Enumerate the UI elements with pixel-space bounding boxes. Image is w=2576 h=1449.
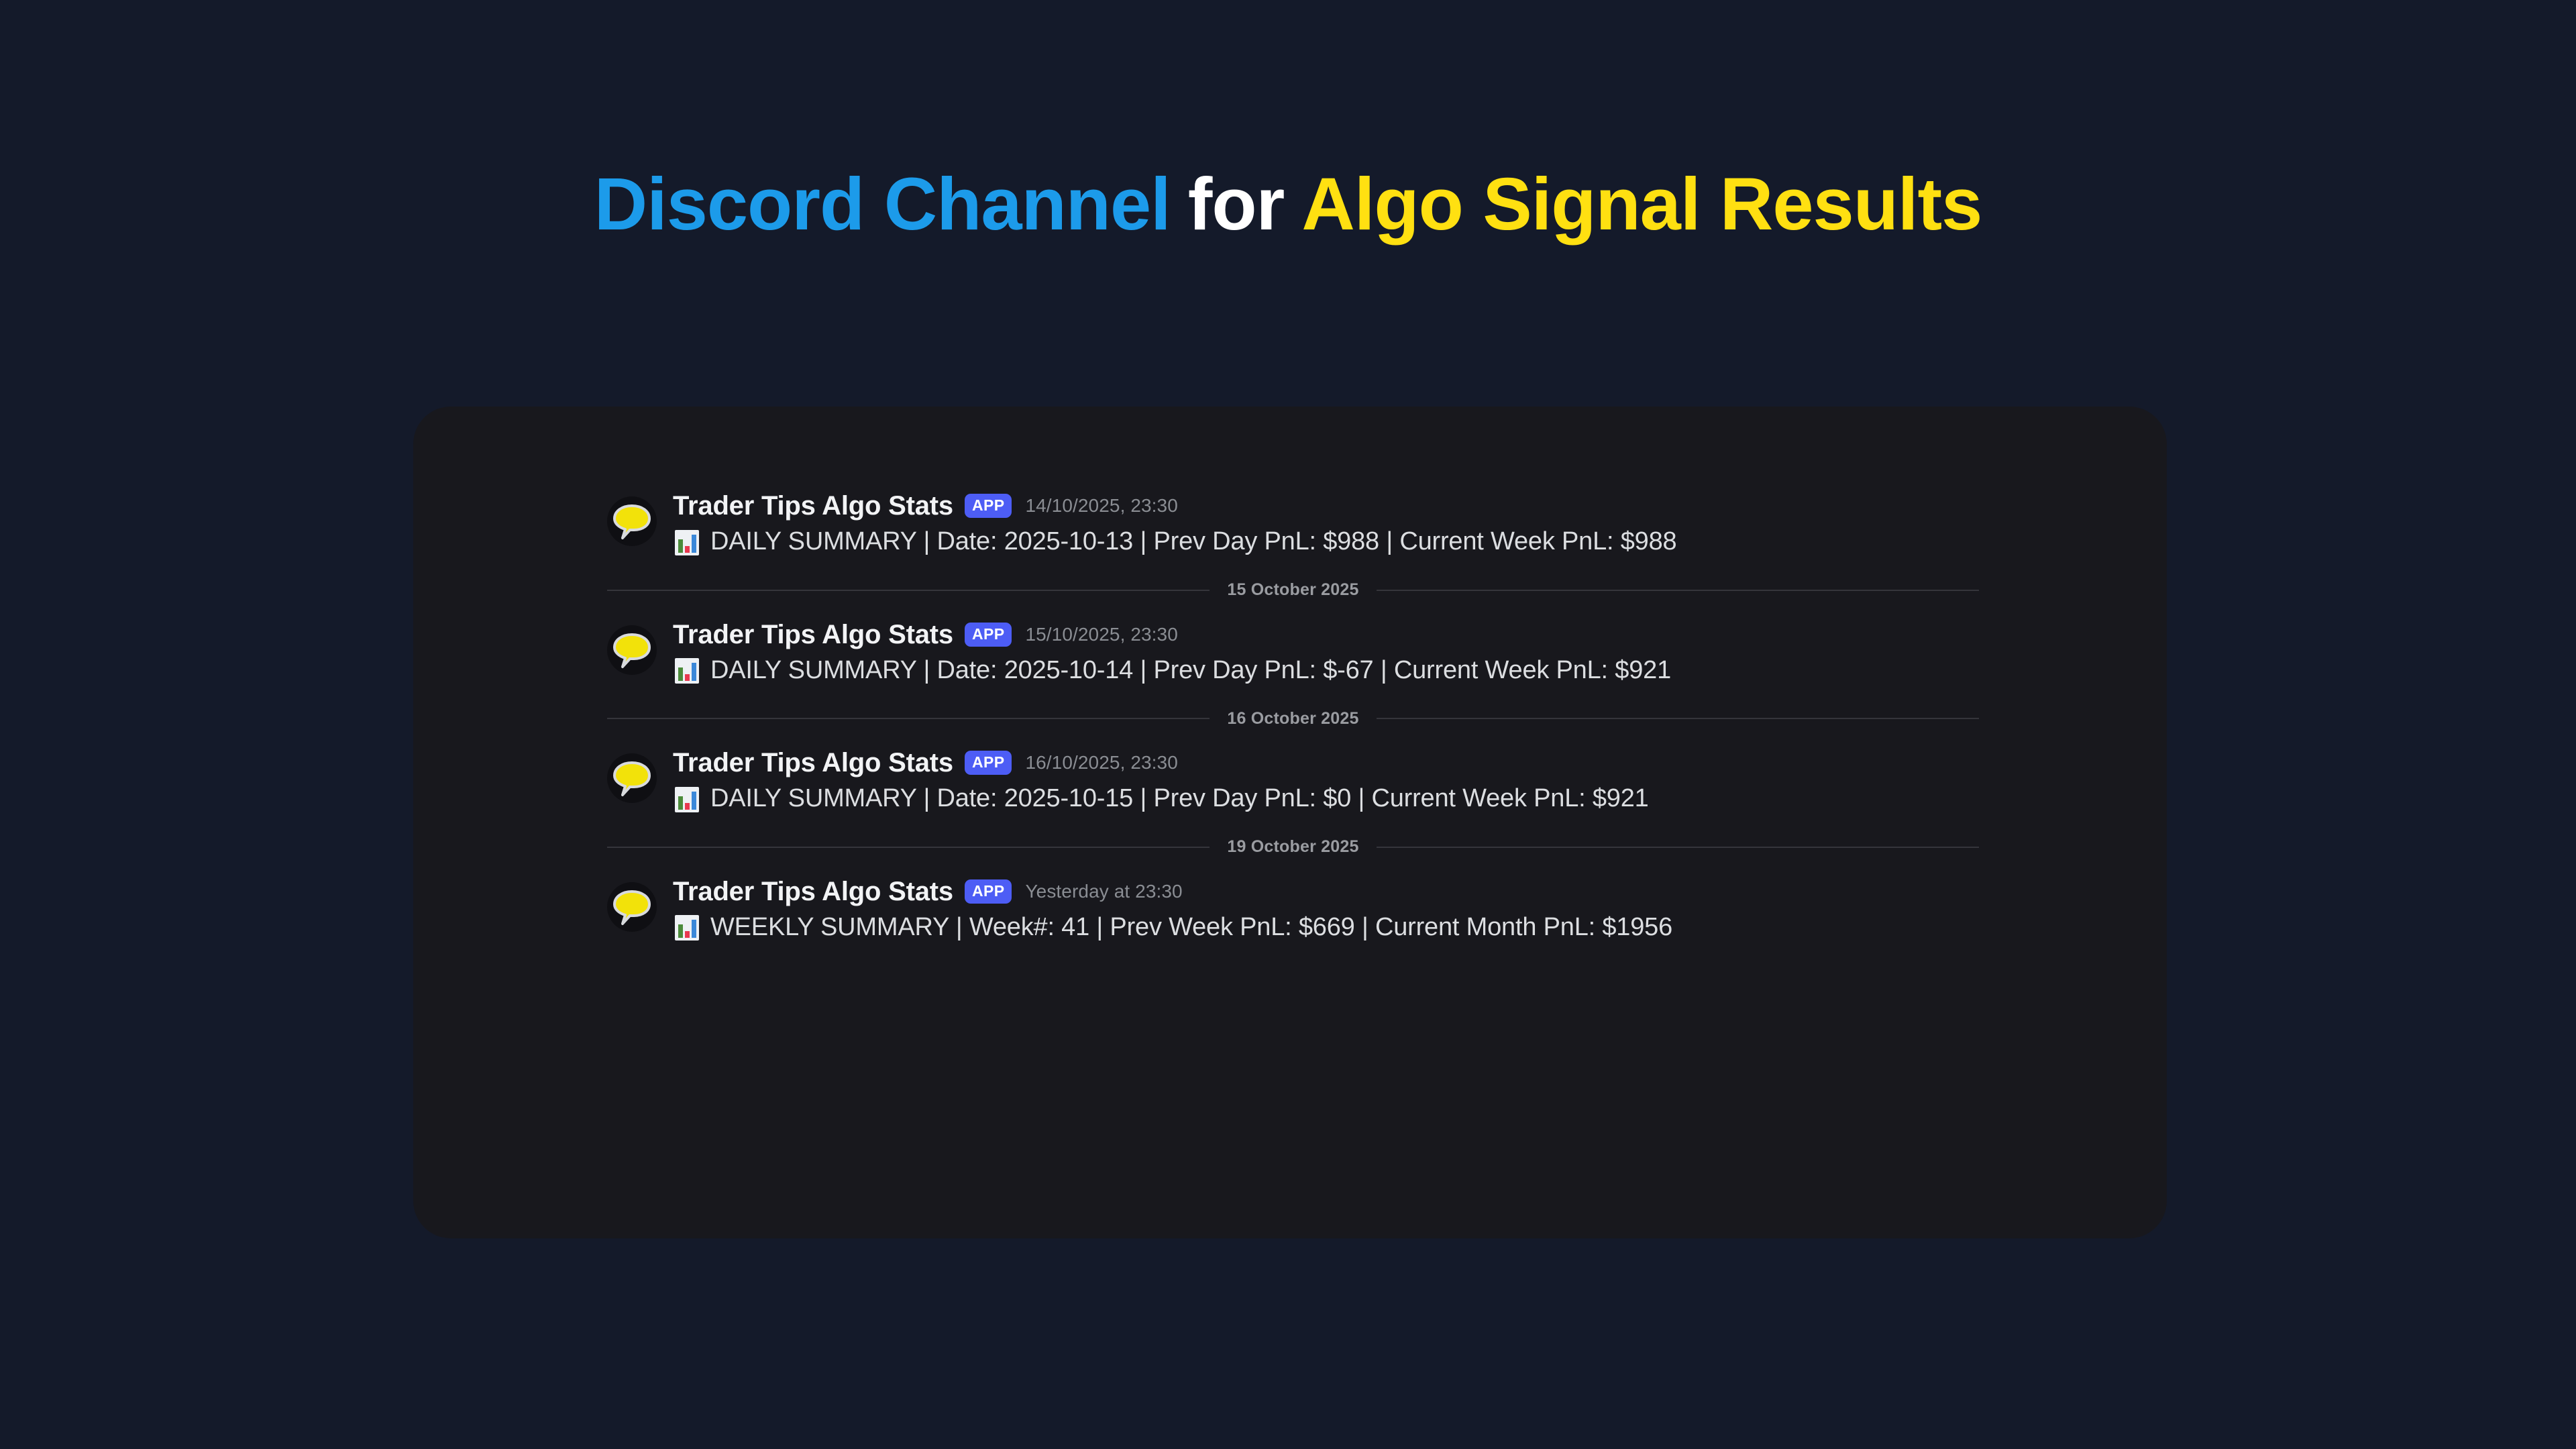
message-timestamp: 15/10/2025, 23:30 bbox=[1025, 625, 1177, 644]
app-badge: APP bbox=[965, 879, 1012, 904]
avatar[interactable] bbox=[607, 625, 657, 675]
message-text: DAILY SUMMARY | Date: 2025-10-15 | Prev … bbox=[710, 783, 1649, 815]
date-divider: 16 October 2025 bbox=[607, 697, 1979, 740]
chat-message[interactable]: Trader Tips Algo StatsAPP14/10/2025, 23:… bbox=[607, 486, 1979, 562]
avatar[interactable] bbox=[607, 496, 657, 546]
message-body: Trader Tips Algo StatsAPP16/10/2025, 23:… bbox=[673, 749, 1979, 815]
bar-chart-icon bbox=[673, 786, 701, 814]
speech-bubble-icon bbox=[607, 496, 657, 546]
discord-channel-panel: Trader Tips Algo StatsAPP14/10/2025, 23:… bbox=[413, 407, 2167, 1238]
page-title-part-discord-channel: Discord Channel bbox=[594, 163, 1171, 246]
app-badge: APP bbox=[965, 494, 1012, 518]
avatar-column bbox=[607, 492, 673, 546]
message-header: Trader Tips Algo StatsAPP16/10/2025, 23:… bbox=[673, 749, 1979, 776]
avatar[interactable] bbox=[607, 882, 657, 932]
message-content: DAILY SUMMARY | Date: 2025-10-13 | Prev … bbox=[673, 526, 1979, 558]
date-divider-label: 16 October 2025 bbox=[1210, 709, 1376, 729]
page-title-container: Discord ChannelforAlgo Signal Results bbox=[0, 0, 2576, 241]
chat-message[interactable]: Trader Tips Algo StatsAPP16/10/2025, 23:… bbox=[607, 743, 1979, 819]
chat-message[interactable]: Trader Tips Algo StatsAPPYesterday at 23… bbox=[607, 871, 1979, 948]
message-content: WEEKLY SUMMARY | Week#: 41 | Prev Week P… bbox=[673, 912, 1979, 944]
message-username[interactable]: Trader Tips Algo Stats bbox=[673, 621, 953, 648]
message-text: WEEKLY SUMMARY | Week#: 41 | Prev Week P… bbox=[710, 912, 1672, 944]
date-divider: 15 October 2025 bbox=[607, 569, 1979, 612]
message-username[interactable]: Trader Tips Algo Stats bbox=[673, 492, 953, 519]
page-title: Discord ChannelforAlgo Signal Results bbox=[0, 168, 2576, 241]
date-divider-label: 15 October 2025 bbox=[1210, 580, 1376, 600]
message-header: Trader Tips Algo StatsAPPYesterday at 23… bbox=[673, 878, 1979, 905]
app-badge: APP bbox=[965, 623, 1012, 647]
speech-bubble-icon bbox=[607, 882, 657, 932]
date-divider: 19 October 2025 bbox=[607, 826, 1979, 869]
message-text: DAILY SUMMARY | Date: 2025-10-13 | Prev … bbox=[710, 526, 1676, 558]
avatar-column bbox=[607, 878, 673, 932]
message-header: Trader Tips Algo StatsAPP15/10/2025, 23:… bbox=[673, 621, 1979, 648]
date-divider-label: 19 October 2025 bbox=[1210, 837, 1376, 857]
page-title-part-for: for bbox=[1188, 163, 1285, 246]
bar-chart-icon bbox=[673, 529, 701, 557]
bar-chart-icon bbox=[673, 657, 701, 685]
chat-message[interactable]: Trader Tips Algo StatsAPP15/10/2025, 23:… bbox=[607, 614, 1979, 691]
message-body: Trader Tips Algo StatsAPP15/10/2025, 23:… bbox=[673, 621, 1979, 687]
message-feed: Trader Tips Algo StatsAPP14/10/2025, 23:… bbox=[607, 486, 1979, 947]
avatar[interactable] bbox=[607, 753, 657, 803]
app-badge: APP bbox=[965, 751, 1012, 775]
avatar-column bbox=[607, 621, 673, 675]
bar-chart-icon bbox=[673, 914, 701, 942]
message-header: Trader Tips Algo StatsAPP14/10/2025, 23:… bbox=[673, 492, 1979, 519]
message-body: Trader Tips Algo StatsAPP14/10/2025, 23:… bbox=[673, 492, 1979, 558]
message-username[interactable]: Trader Tips Algo Stats bbox=[673, 749, 953, 776]
message-text: DAILY SUMMARY | Date: 2025-10-14 | Prev … bbox=[710, 655, 1671, 687]
speech-bubble-icon bbox=[607, 625, 657, 675]
page-title-part-algo-signal-results: Algo Signal Results bbox=[1301, 163, 1982, 246]
message-content: DAILY SUMMARY | Date: 2025-10-14 | Prev … bbox=[673, 655, 1979, 687]
message-body: Trader Tips Algo StatsAPPYesterday at 23… bbox=[673, 878, 1979, 944]
message-timestamp: 14/10/2025, 23:30 bbox=[1025, 496, 1177, 515]
message-content: DAILY SUMMARY | Date: 2025-10-15 | Prev … bbox=[673, 783, 1979, 815]
message-username[interactable]: Trader Tips Algo Stats bbox=[673, 878, 953, 905]
message-timestamp: Yesterday at 23:30 bbox=[1025, 882, 1182, 901]
avatar-column bbox=[607, 749, 673, 803]
message-timestamp: 16/10/2025, 23:30 bbox=[1025, 753, 1177, 772]
speech-bubble-icon bbox=[607, 753, 657, 803]
